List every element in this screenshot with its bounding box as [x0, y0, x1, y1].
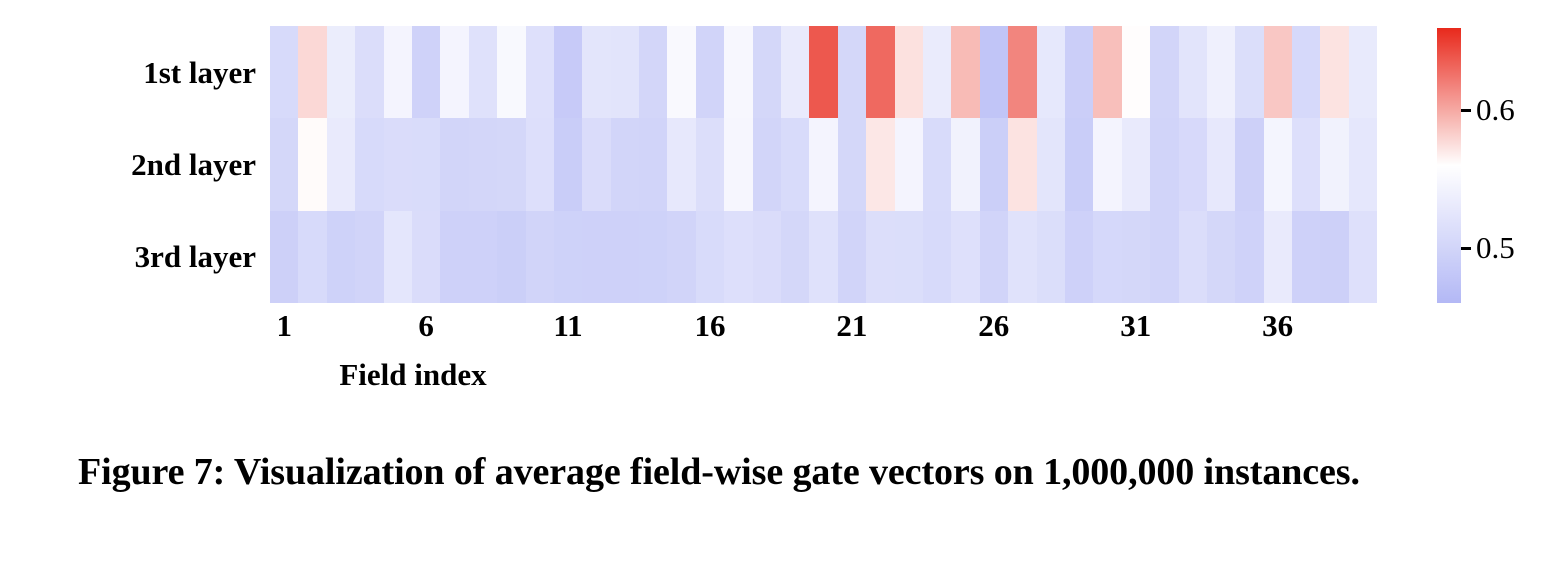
heatmap-cell	[582, 118, 610, 210]
heatmap-cell	[753, 211, 781, 303]
heatmap-cell	[1264, 211, 1292, 303]
heatmap-cell	[923, 26, 951, 118]
heatmap-cell	[1264, 26, 1292, 118]
heatmap-cell	[1093, 26, 1121, 118]
heatmap-cell	[384, 211, 412, 303]
colorbar-tick-mark	[1461, 109, 1471, 112]
heatmap-cell	[1037, 26, 1065, 118]
x-axis-tick-1: 1	[244, 310, 324, 341]
heatmap-cell	[1065, 211, 1093, 303]
heatmap-cell	[1320, 26, 1348, 118]
heatmap-cell	[412, 26, 440, 118]
heatmap-cell	[440, 211, 468, 303]
heatmap-cell	[951, 118, 979, 210]
heatmap-cell	[639, 26, 667, 118]
heatmap-cell	[1292, 26, 1320, 118]
heatmap-cell	[355, 211, 383, 303]
heatmap-cell	[1349, 26, 1377, 118]
y-axis-label-3rd-layer: 3rd layer	[0, 241, 256, 272]
heatmap-cell	[526, 118, 554, 210]
x-axis-tick-36: 36	[1238, 310, 1318, 341]
heatmap-cell	[667, 118, 695, 210]
heatmap-cell	[696, 118, 724, 210]
heatmap-cell	[611, 211, 639, 303]
heatmap-cell	[440, 118, 468, 210]
heatmap-cell	[1292, 211, 1320, 303]
heatmap-cell	[1093, 211, 1121, 303]
heatmap-cell	[1150, 26, 1178, 118]
heatmap-cell	[526, 211, 554, 303]
x-axis-title: Field index	[0, 357, 1566, 393]
heatmap-cell	[298, 118, 326, 210]
colorbar-tick-label: 0.6	[1476, 94, 1515, 125]
heatmap-cell	[923, 211, 951, 303]
heatmap-cell	[951, 211, 979, 303]
heatmap-cell	[809, 26, 837, 118]
heatmap-cell	[781, 211, 809, 303]
heatmap-cell	[582, 26, 610, 118]
heatmap-plot-area	[270, 26, 1377, 303]
heatmap-cell	[866, 26, 894, 118]
heatmap-cell	[469, 211, 497, 303]
heatmap-cell	[809, 211, 837, 303]
heatmap-cell	[923, 118, 951, 210]
heatmap-cell	[1008, 211, 1036, 303]
heatmap-cell	[1264, 118, 1292, 210]
y-axis-label-2nd-layer: 2nd layer	[0, 149, 256, 180]
y-axis-label-1st-layer: 1st layer	[0, 57, 256, 88]
heatmap-cell	[980, 118, 1008, 210]
heatmap-cell	[1207, 118, 1235, 210]
heatmap-cell	[554, 26, 582, 118]
heatmap-cell	[1179, 211, 1207, 303]
heatmap-cell	[724, 118, 752, 210]
heatmap-cell	[838, 118, 866, 210]
heatmap-cell	[1292, 118, 1320, 210]
heatmap-cell	[895, 118, 923, 210]
heatmap-cell	[1207, 26, 1235, 118]
heatmap-row-1st-layer	[270, 26, 1377, 118]
heatmap-cell	[611, 26, 639, 118]
heatmap-cell	[838, 26, 866, 118]
heatmap-cell	[696, 26, 724, 118]
heatmap-cell	[781, 118, 809, 210]
heatmap-cell	[384, 26, 412, 118]
x-axis-tick-31: 31	[1096, 310, 1176, 341]
heatmap-cell	[866, 118, 894, 210]
heatmap-cell	[667, 211, 695, 303]
heatmap-cell	[639, 118, 667, 210]
x-axis-title-text: Field index	[339, 357, 486, 393]
heatmap-cell	[753, 26, 781, 118]
heatmap-cell	[497, 211, 525, 303]
heatmap-cell	[1008, 26, 1036, 118]
heatmap-cell	[1179, 118, 1207, 210]
heatmap-cell	[1122, 26, 1150, 118]
heatmap-cell	[1008, 118, 1036, 210]
colorbar-gradient	[1437, 28, 1461, 303]
heatmap-cell	[724, 211, 752, 303]
heatmap-cell	[1349, 211, 1377, 303]
heatmap-cell	[412, 211, 440, 303]
heatmap-cell	[1179, 26, 1207, 118]
heatmap-cell	[895, 26, 923, 118]
heatmap-cell	[327, 211, 355, 303]
heatmap-cell	[1122, 211, 1150, 303]
heatmap-cell	[270, 26, 298, 118]
heatmap-cell	[1065, 118, 1093, 210]
heatmap-cell	[554, 118, 582, 210]
heatmap-cell	[951, 26, 979, 118]
heatmap-cell	[639, 211, 667, 303]
heatmap-cell	[611, 118, 639, 210]
heatmap-cell	[838, 211, 866, 303]
heatmap-cell	[440, 26, 468, 118]
heatmap-cell	[327, 26, 355, 118]
figure-caption: Figure 7: Visualization of average field…	[78, 448, 1518, 497]
heatmap-cell	[526, 26, 554, 118]
heatmap-cell	[355, 118, 383, 210]
heatmap-cell	[469, 118, 497, 210]
heatmap-cell	[384, 118, 412, 210]
heatmap-cell	[781, 26, 809, 118]
heatmap-cell	[270, 211, 298, 303]
heatmap-cell	[866, 211, 894, 303]
heatmap-cell	[1037, 118, 1065, 210]
heatmap-cell	[1065, 26, 1093, 118]
heatmap-cell	[1122, 118, 1150, 210]
heatmap-cell	[270, 118, 298, 210]
heatmap-cell	[1150, 211, 1178, 303]
heatmap-cell	[1093, 118, 1121, 210]
colorbar-tick-label: 0.5	[1476, 232, 1515, 263]
heatmap-cell	[667, 26, 695, 118]
heatmap-cell	[1320, 118, 1348, 210]
heatmap-cell	[1037, 211, 1065, 303]
x-axis-tick-11: 11	[528, 310, 608, 341]
heatmap-cell	[327, 118, 355, 210]
heatmap-cell	[724, 26, 752, 118]
heatmap-cell	[1207, 211, 1235, 303]
heatmap-cell	[809, 118, 837, 210]
figure-7-container: 1st layer 2nd layer 3rd layer 1611162126…	[0, 0, 1566, 586]
heatmap-cell	[980, 211, 1008, 303]
heatmap-cell	[980, 26, 1008, 118]
colorbar-tick-mark	[1461, 247, 1471, 250]
heatmap-cell	[298, 211, 326, 303]
x-axis-tick-21: 21	[812, 310, 892, 341]
heatmap-cell	[1150, 118, 1178, 210]
heatmap-row-2nd-layer	[270, 118, 1377, 210]
heatmap-cell	[1235, 26, 1263, 118]
heatmap-cell	[469, 26, 497, 118]
heatmap-cell	[497, 26, 525, 118]
heatmap-cell	[895, 211, 923, 303]
heatmap-cell	[554, 211, 582, 303]
heatmap-cell	[355, 26, 383, 118]
heatmap-cell	[497, 118, 525, 210]
heatmap-cell	[1320, 211, 1348, 303]
x-axis-tick-26: 26	[954, 310, 1034, 341]
x-axis-tick-16: 16	[670, 310, 750, 341]
heatmap-cell	[1235, 211, 1263, 303]
colorbar: 0.60.5	[1437, 28, 1461, 303]
heatmap-cell	[582, 211, 610, 303]
heatmap-cell	[1349, 118, 1377, 210]
heatmap-cell	[298, 26, 326, 118]
heatmap-row-3rd-layer	[270, 211, 1377, 303]
heatmap-cell	[753, 118, 781, 210]
x-axis-tick-6: 6	[386, 310, 466, 341]
heatmap-cell	[696, 211, 724, 303]
heatmap-cell	[1235, 118, 1263, 210]
heatmap-cell	[412, 118, 440, 210]
